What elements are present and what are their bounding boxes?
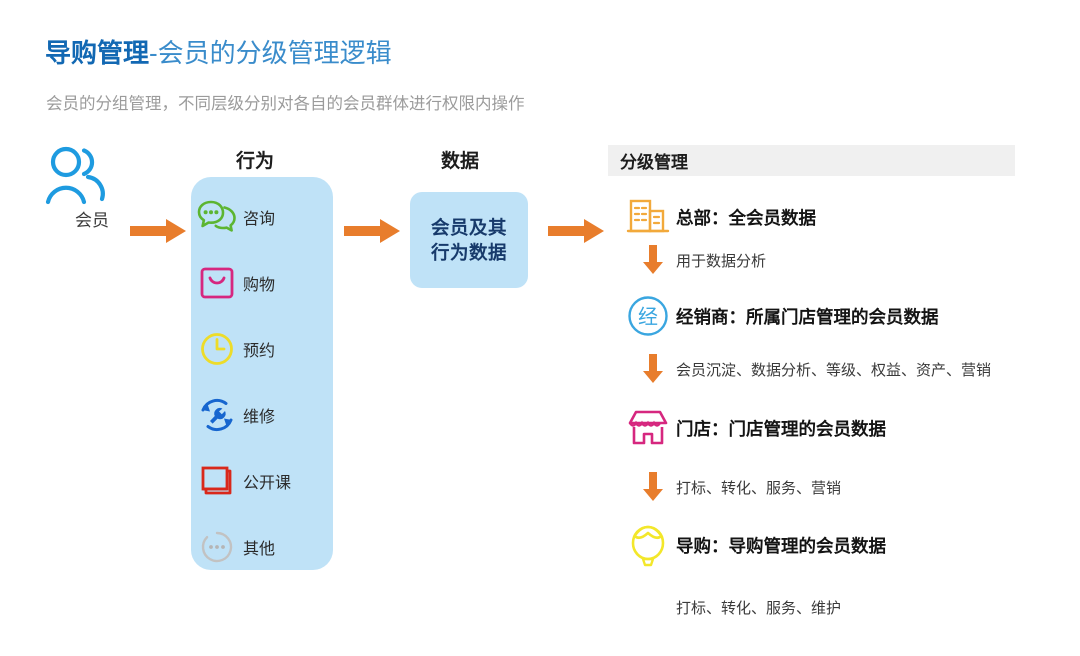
member-label: 会员 xyxy=(44,206,140,231)
level-step-4: 打标、转化、服务、维护 xyxy=(630,590,841,624)
page-title: 导购管理-会员的分级管理逻辑 xyxy=(45,36,392,70)
ellipsis-circle-icon xyxy=(191,525,243,569)
behavior-item-label: 咨询 xyxy=(243,205,275,229)
clock-icon xyxy=(191,327,243,371)
dealer-circle-icon: 经 xyxy=(620,292,676,340)
two-people-icon xyxy=(44,146,140,204)
data-box-line-2: 行为数据 xyxy=(431,240,507,265)
level-row-label: 导购：导购管理的会员数据 xyxy=(676,533,886,558)
behavior-item-other[interactable]: 其他 xyxy=(191,525,333,569)
arrow-down-icon xyxy=(630,243,676,277)
storefront-icon xyxy=(620,404,676,452)
level-row-label: 经销商：所属门店管理的会员数据 xyxy=(676,304,939,329)
page-subtitle: 会员的分组管理，不同层级分别对各自的会员群体进行权限内操作 xyxy=(46,92,525,116)
level-row-store[interactable]: 门店：门店管理的会员数据 xyxy=(620,404,886,452)
shopping-bag-icon xyxy=(191,261,243,305)
svg-text:经: 经 xyxy=(638,306,658,329)
level-step-label: 会员沉淀、数据分析、等级、权益、资产、营销 xyxy=(676,359,991,380)
level-step-label: 打标、转化、服务、维护 xyxy=(676,597,841,618)
data-box-line-1: 会员及其 xyxy=(431,215,507,240)
behavior-panel: 咨询 购物 预约 维修 xyxy=(191,177,333,570)
behavior-item-label: 其他 xyxy=(243,535,275,559)
behavior-item-open-class[interactable]: 公开课 xyxy=(191,459,333,503)
building-icon xyxy=(620,193,676,241)
behavior-item-label: 预约 xyxy=(243,337,275,361)
arrow-right-icon xyxy=(548,216,604,246)
arrow-right-icon xyxy=(344,216,400,246)
guide-person-icon xyxy=(620,521,676,569)
behavior-item-shopping[interactable]: 购物 xyxy=(191,261,333,305)
behavior-item-repair[interactable]: 维修 xyxy=(191,393,333,437)
wrench-repair-icon xyxy=(191,393,243,437)
level-step-label: 打标、转化、服务、营销 xyxy=(676,477,841,498)
level-step-2: 会员沉淀、数据分析、等级、权益、资产、营销 xyxy=(630,352,991,386)
levels-header: 分级管理 xyxy=(608,145,1015,176)
page-title-rest: -会员的分级管理逻辑 xyxy=(149,38,392,68)
member-block: 会员 xyxy=(44,146,140,231)
data-heading: 数据 xyxy=(441,146,479,173)
data-box: 会员及其 行为数据 xyxy=(410,192,528,288)
level-step-label: 用于数据分析 xyxy=(676,250,766,271)
level-step-1: 用于数据分析 xyxy=(630,243,766,277)
behavior-item-appointment[interactable]: 预约 xyxy=(191,327,333,371)
page-title-strong: 导购管理 xyxy=(45,38,149,68)
behavior-item-label: 购物 xyxy=(243,271,275,295)
behavior-item-label: 公开课 xyxy=(243,469,291,493)
behavior-item-consult[interactable]: 咨询 xyxy=(191,195,333,239)
chat-bubbles-icon xyxy=(191,195,243,239)
arrow-right-icon xyxy=(130,216,186,246)
level-row-label: 总部：全会员数据 xyxy=(676,205,816,230)
arrow-down-icon xyxy=(630,470,676,504)
behavior-heading: 行为 xyxy=(236,146,274,173)
level-row-label: 门店：门店管理的会员数据 xyxy=(676,416,886,441)
arrow-down-icon xyxy=(630,352,676,386)
book-icon xyxy=(191,459,243,503)
level-row-headquarters[interactable]: 总部：全会员数据 xyxy=(620,193,816,241)
level-row-dealer[interactable]: 经 经销商：所属门店管理的会员数据 xyxy=(620,292,939,340)
behavior-item-label: 维修 xyxy=(243,403,275,427)
level-row-guide[interactable]: 导购：导购管理的会员数据 xyxy=(620,521,886,569)
level-step-3: 打标、转化、服务、营销 xyxy=(630,470,841,504)
levels-heading: 分级管理 xyxy=(620,148,688,173)
